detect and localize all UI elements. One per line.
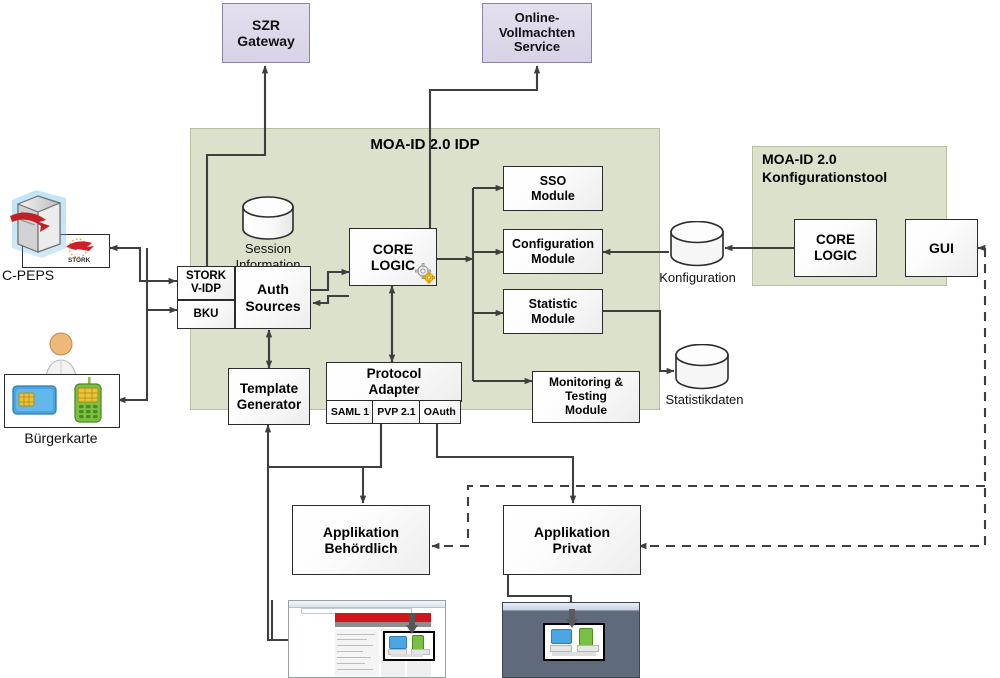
protocol-oauth-label: OAuth xyxy=(424,406,456,418)
bku-label: BKU xyxy=(194,308,219,321)
thumb-arrow-overlay xyxy=(405,613,419,635)
application-behoerdlich-box[interactable]: Applikation Behördlich xyxy=(292,505,430,575)
actor-cpeps-label: C-PEPS xyxy=(2,267,82,283)
datastore-session-information-label-line1: Session xyxy=(218,241,318,256)
vollmachten-line1: Online- xyxy=(515,11,560,26)
vollmachten-line3: Service xyxy=(514,40,560,55)
mobile-phone-icon xyxy=(72,376,106,424)
datastore-konfiguration-label: Konfiguration xyxy=(645,270,750,285)
konfigtool-gui-label: GUI xyxy=(929,240,954,256)
konfigtool-gui-box[interactable]: GUI xyxy=(905,219,978,277)
stork-vidp-line1: STORK xyxy=(186,270,226,283)
auth-channel-bku[interactable]: BKU xyxy=(177,300,235,329)
actor-buergerkarte-label: Bürgerkarte xyxy=(0,430,122,446)
module-sso-line1: SSO xyxy=(540,174,566,188)
module-configuration-line2: Module xyxy=(531,252,575,266)
template-generator-box[interactable]: Template Generator xyxy=(228,368,310,425)
zone-konfigurationstool-title-line1: MOA-ID 2.0 xyxy=(762,151,837,167)
protocol-adapter-line1: Protocol xyxy=(367,366,422,382)
module-statistic-line1: Statistic xyxy=(529,297,578,311)
datastore-statistikdaten xyxy=(673,344,731,390)
protocol-adapter-line2: Adapter xyxy=(368,382,419,398)
cpeps-server-icon xyxy=(6,186,72,264)
module-statistic-line2: Module xyxy=(531,312,575,326)
template-generator-line2: Generator xyxy=(237,397,302,413)
protocol-adapter-box[interactable]: Protocol Adapter xyxy=(326,362,462,402)
konfigtool-core-logic-line2: LOGIC xyxy=(814,248,857,264)
dialog-button-handy[interactable] xyxy=(577,645,599,652)
bku-selection-highlight xyxy=(383,631,435,661)
vollmachten-line2: Vollmachten xyxy=(499,26,575,41)
module-configuration-line1: Configuration xyxy=(512,237,594,251)
site-text-lines xyxy=(337,632,377,676)
module-monitoring-testing[interactable]: Monitoring & Testing Module xyxy=(532,371,640,423)
app-privat-line1: Applikation xyxy=(534,524,610,540)
gear-icon xyxy=(414,262,436,284)
cylinder-icon xyxy=(673,344,731,390)
datastore-statistikdaten-label: Statistikdaten xyxy=(647,392,762,407)
konfigtool-core-logic-line1: CORE xyxy=(816,232,855,248)
desktop-screenshot-thumbnail[interactable] xyxy=(502,602,640,678)
auth-channel-stork-vidp[interactable]: STORK V-IDP xyxy=(177,266,235,300)
dialog-checkbox-row[interactable] xyxy=(552,652,596,656)
desktop-arrow-overlay xyxy=(565,609,579,629)
app-behoerdlich-line1: Applikation xyxy=(323,524,399,540)
datastore-konfiguration xyxy=(668,221,726,267)
module-sso-line2: Module xyxy=(531,189,575,203)
cylinder-icon xyxy=(240,196,296,240)
idp-core-logic-line1: CORE xyxy=(373,241,413,257)
zone-konfigurationstool-title-line2: Konfigurationstool xyxy=(762,169,887,185)
szr-gateway-line2: Gateway xyxy=(237,33,295,49)
dialog-smartcard-icon xyxy=(551,629,572,644)
dialog-mobile-icon xyxy=(579,628,593,646)
datastore-session-information xyxy=(240,196,296,240)
smartcard-icon xyxy=(12,383,58,417)
module-monitoring-line3: Module xyxy=(565,404,607,418)
app-behoerdlich-line2: Behördlich xyxy=(324,540,397,556)
szr-gateway-line1: SZR xyxy=(252,17,280,33)
app-privat-line2: Privat xyxy=(553,540,592,556)
auth-sources-line1: Auth xyxy=(257,281,289,297)
browser-screenshot-thumbnail[interactable] xyxy=(288,600,446,678)
protocol-cell-saml1[interactable]: SAML 1 xyxy=(326,400,374,424)
module-sso[interactable]: SSO Module xyxy=(503,166,603,211)
browser-toolbar xyxy=(289,601,445,608)
zone-moaid-idp-title: MOA-ID 2.0 IDP xyxy=(190,136,660,153)
template-generator-line1: Template xyxy=(240,381,298,397)
protocol-pvp21-label: PVP 2.1 xyxy=(377,406,415,418)
thumb-smartcard-icon xyxy=(389,636,407,649)
protocol-adapter-protocol-row: SAML 1 PVP 2.1 OAuth xyxy=(326,400,462,424)
idp-core-logic-line2: LOGIC xyxy=(371,257,415,273)
thumb-checkbox-row[interactable] xyxy=(391,654,423,657)
protocol-saml1-label: SAML 1 xyxy=(331,406,369,418)
module-statistic[interactable]: Statistic Module xyxy=(503,289,603,334)
external-service-online-vollmachten[interactable]: Online- Vollmachten Service xyxy=(482,3,592,63)
module-monitoring-line1: Monitoring & xyxy=(549,376,623,390)
dialog-button-karte[interactable] xyxy=(550,645,572,652)
cylinder-icon xyxy=(668,221,726,267)
module-configuration[interactable]: Configuration Module xyxy=(503,229,603,274)
stork-vidp-line2: V-IDP xyxy=(191,283,221,296)
auth-sources-line2: Sources xyxy=(245,298,300,314)
konfigtool-core-logic-box[interactable]: CORE LOGIC xyxy=(794,219,877,277)
protocol-cell-pvp21[interactable]: PVP 2.1 xyxy=(372,400,420,424)
module-monitoring-line2: Testing xyxy=(565,390,607,404)
external-service-szr-gateway[interactable]: SZR Gateway xyxy=(222,3,310,63)
diagram-canvas: MOA-ID 2.0 IDP MOA-ID 2.0 Konfigurations… xyxy=(0,0,1000,678)
application-privat-box[interactable]: Applikation Privat xyxy=(503,505,641,575)
auth-sources-box[interactable]: Auth Sources xyxy=(235,266,311,329)
protocol-cell-oauth[interactable]: OAuth xyxy=(419,400,461,424)
